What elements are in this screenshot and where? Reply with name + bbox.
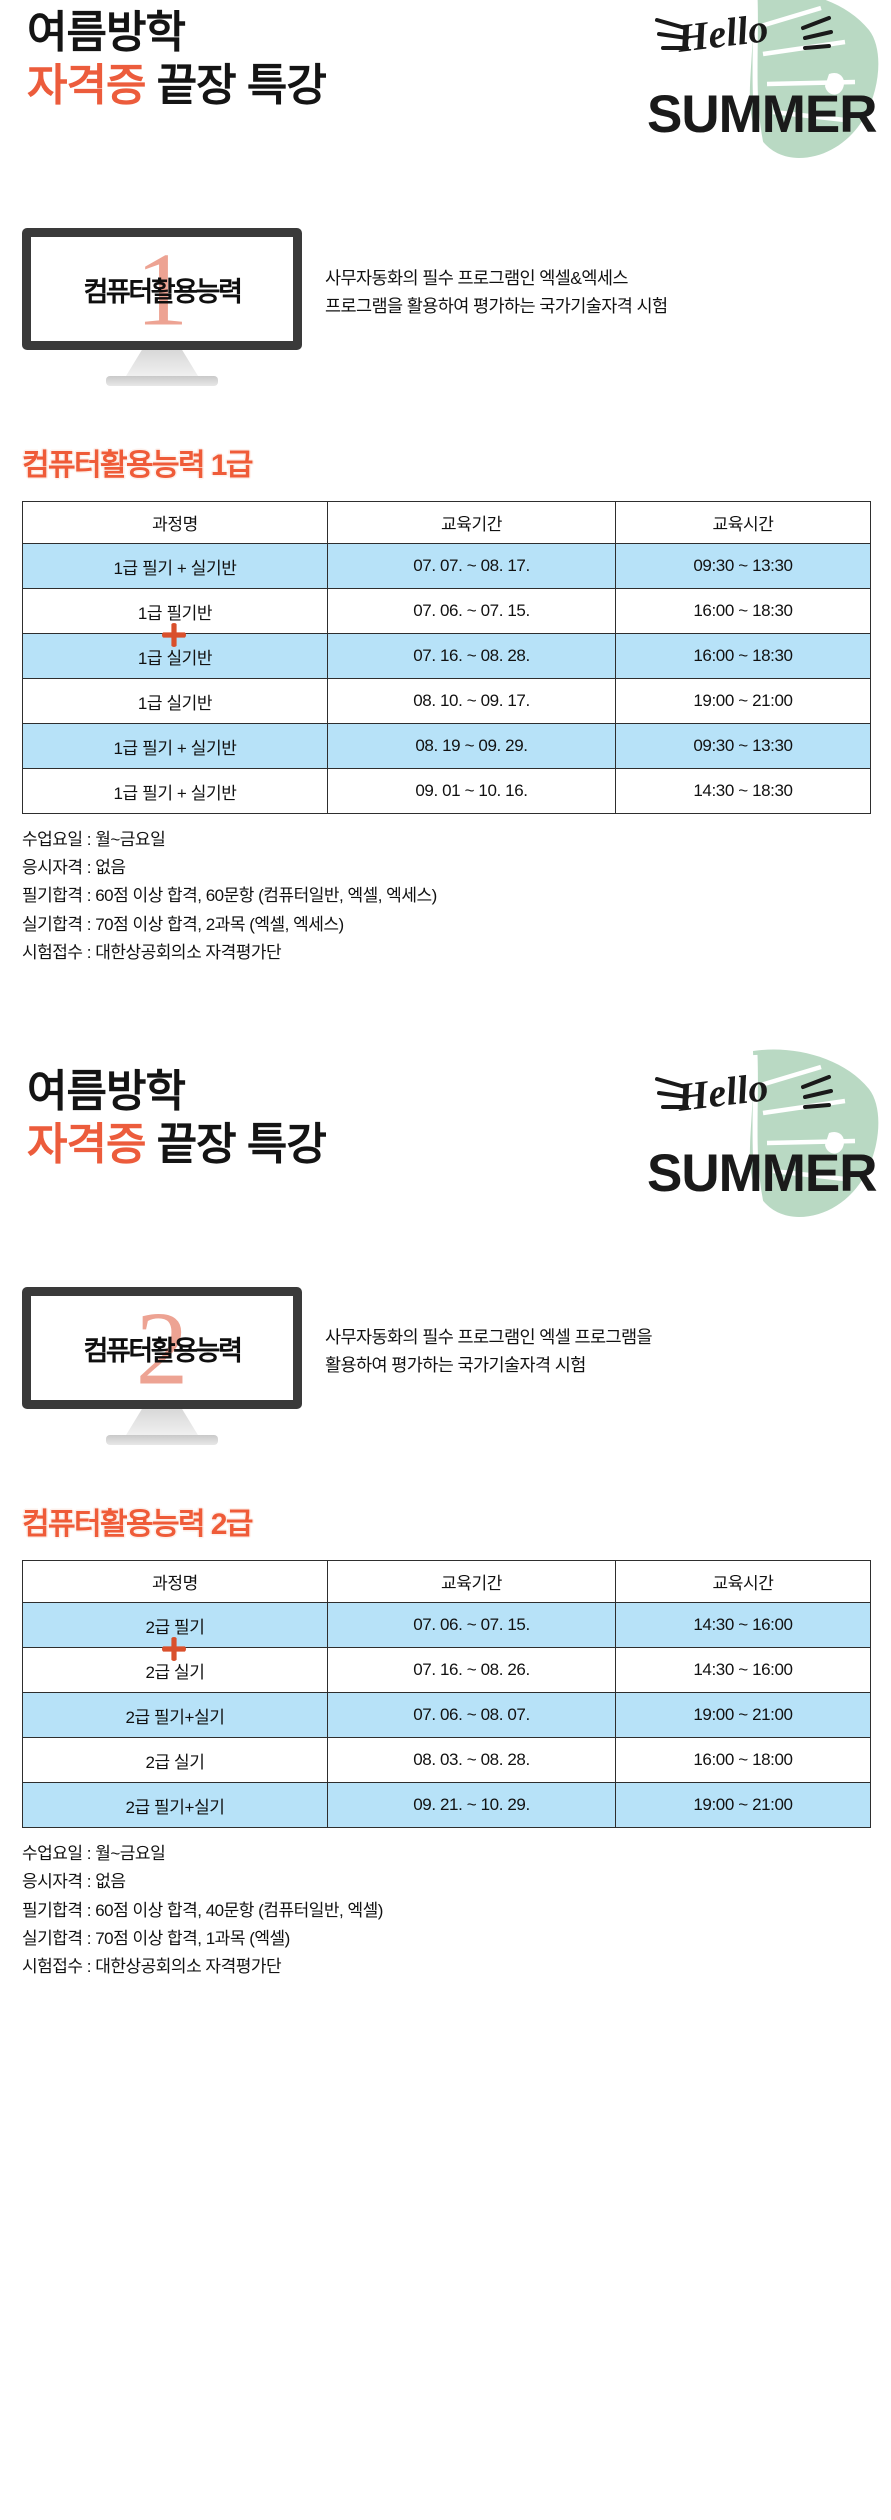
cell-time: 14:30 ~ 16:00	[616, 1648, 871, 1693]
cell-time: 16:00 ~ 18:00	[616, 1738, 871, 1783]
cell-course: 1급 실기반	[23, 679, 328, 724]
cell-time: 19:00 ~ 21:00	[616, 1783, 871, 1828]
hero-line2: 자격증 끝장 특강	[27, 61, 326, 110]
col-header-period: 교육기간	[328, 502, 616, 544]
cell-period: 07. 06. ~ 07. 15.	[328, 1603, 616, 1648]
table-row: 1급 필기 + 실기반 08. 19 ~ 09. 29. 09:30 ~ 13:…	[23, 724, 871, 769]
col-header-time: 교육시간	[616, 1561, 871, 1603]
note-line: 필기합격 : 60점 이상 합격, 60문항 (컴퓨터일반, 엑셀, 엑세스)	[22, 882, 891, 910]
promo-page: 여름방학 자격증 끝장 특강 Hello SUMMER	[0, 0, 891, 2025]
cell-time: 14:30 ~ 18:30	[616, 769, 871, 814]
table-row: 2급 실기 07. 16. ~ 08. 26. 14:30 ~ 16:00	[23, 1648, 871, 1693]
cell-course: 1급 필기 + 실기반	[23, 724, 328, 769]
table-row: 2급 실기 08. 03. ~ 08. 28. 16:00 ~ 18:00	[23, 1738, 871, 1783]
monitor-label-1: 컴퓨터활용능력	[83, 270, 240, 309]
schedule-table-wrap-2: 과정명 교육기간 교육시간 2급 필기 07. 06. ~ 07. 15. 14…	[22, 1560, 870, 1828]
cell-course: 1급 필기 + 실기반	[23, 544, 328, 589]
schedule-table-1: 과정명 교육기간 교육시간 1급 필기 + 실기반 07. 07. ~ 08. …	[22, 501, 871, 814]
cell-period: 07. 06. ~ 08. 07.	[328, 1693, 616, 1738]
monitor-graphic-1: 1 컴퓨터활용능력	[22, 228, 302, 386]
summer-block-text: SUMMER	[647, 85, 877, 144]
table-row: 1급 실기반 08. 10. ~ 09. 17. 19:00 ~ 21:00	[23, 679, 871, 724]
section-title-2: 컴퓨터활용능력 2급	[22, 1499, 891, 1543]
hero-rest-word: 끝장 특강	[145, 1120, 325, 1169]
table-row: 2급 필기+실기 09. 21. ~ 10. 29. 19:00 ~ 21:00	[23, 1783, 871, 1828]
description-line-2a: 사무자동화의 필수 프로그램인 엑셀 프로그램을	[325, 1323, 652, 1351]
cell-course: 1급 필기 + 실기반	[23, 769, 328, 814]
monitor-neck-2	[126, 1409, 198, 1435]
cell-period: 08. 03. ~ 08. 28.	[328, 1738, 616, 1783]
monitor-neck-1	[126, 350, 198, 376]
hero-line1: 여름방학	[27, 8, 326, 57]
col-header-period: 교육기간	[328, 1561, 616, 1603]
section-title-1: 컴퓨터활용능력 1급	[22, 440, 891, 484]
monitor-label-2: 컴퓨터활용능력	[83, 1329, 240, 1368]
note-line: 응시자격 : 없음	[22, 854, 891, 882]
monitor-base-2	[106, 1435, 218, 1445]
monitor-description-1: 사무자동화의 필수 프로그램인 엑셀&엑세스 프로그램을 활용하여 평가하는 국…	[325, 264, 668, 321]
table-row: 1급 필기반 07. 06. ~ 07. 15. 16:00 ~ 18:30	[23, 589, 871, 634]
col-header-course: 과정명	[23, 502, 328, 544]
footer-space	[0, 1981, 891, 2025]
note-line: 수업요일 : 월~금요일	[22, 826, 891, 854]
cell-time: 16:00 ~ 18:30	[616, 634, 871, 679]
hero-banner-1: 여름방학 자격증 끝장 특강 Hello SUMMER	[0, 0, 891, 232]
table-header-row: 과정명 교육기간 교육시간	[23, 502, 871, 544]
summer-block-text: SUMMER	[647, 1144, 877, 1203]
hero-banner-2: 여름방학 자격증 끝장 특강 Hello SUMMER	[0, 1059, 891, 1291]
monitor-screen-2: 2 컴퓨터활용능력	[22, 1287, 302, 1409]
cell-course: 2급 필기+실기	[23, 1783, 328, 1828]
table-row: 1급 실기반 07. 16. ~ 08. 28. 16:00 ~ 18:30	[23, 634, 871, 679]
cell-period: 09. 21. ~ 10. 29.	[328, 1783, 616, 1828]
hero-accent-word: 자격증	[27, 1120, 145, 1169]
note-line: 시험접수 : 대한상공회의소 자격평가단	[22, 939, 891, 967]
note-line: 시험접수 : 대한상공회의소 자격평가단	[22, 1953, 891, 1981]
hero-headline-1: 여름방학 자격증 끝장 특강	[27, 8, 326, 111]
cell-time: 14:30 ~ 16:00	[616, 1603, 871, 1648]
monitor-screen-1: 1 컴퓨터활용능력	[22, 228, 302, 350]
cell-time: 16:00 ~ 18:30	[616, 589, 871, 634]
note-line: 실기합격 : 70점 이상 합격, 2과목 (엑셀, 엑세스)	[22, 911, 891, 939]
monitor-base-1	[106, 376, 218, 386]
cell-period: 07. 16. ~ 08. 26.	[328, 1648, 616, 1693]
col-header-course: 과정명	[23, 1561, 328, 1603]
cell-course: 1급 실기반	[23, 634, 328, 679]
note-line: 필기합격 : 60점 이상 합격, 40문항 (컴퓨터일반, 엑셀)	[22, 1897, 891, 1925]
hello-summer-badge-1: Hello SUMMER	[633, 0, 883, 166]
hero-line1: 여름방학	[27, 1067, 326, 1116]
note-line: 수업요일 : 월~금요일	[22, 1840, 891, 1868]
hero-line2: 자격증 끝장 특강	[27, 1120, 326, 1169]
cell-period: 09. 01 ~ 10. 16.	[328, 769, 616, 814]
table-row: 2급 필기+실기 07. 06. ~ 08. 07. 19:00 ~ 21:00	[23, 1693, 871, 1738]
cell-time: 09:30 ~ 13:30	[616, 544, 871, 589]
description-line-1a: 사무자동화의 필수 프로그램인 엑셀&엑세스	[325, 264, 668, 292]
hello-summer-badge-2: Hello SUMMER	[633, 1045, 883, 1225]
notes-block-2: 수업요일 : 월~금요일 응시자격 : 없음 필기합격 : 60점 이상 합격,…	[22, 1840, 891, 1981]
cell-course: 2급 실기	[23, 1738, 328, 1783]
table-row: 1급 필기 + 실기반 07. 07. ~ 08. 17. 09:30 ~ 13…	[23, 544, 871, 589]
cell-course: 2급 실기	[23, 1648, 328, 1693]
col-header-time: 교육시간	[616, 502, 871, 544]
cell-period: 07. 16. ~ 08. 28.	[328, 634, 616, 679]
cell-period: 08. 10. ~ 09. 17.	[328, 679, 616, 724]
cell-period: 08. 19 ~ 09. 29.	[328, 724, 616, 769]
hero-accent-word: 자격증	[27, 61, 145, 110]
table-row: 2급 필기 07. 06. ~ 07. 15. 14:30 ~ 16:00	[23, 1603, 871, 1648]
cell-period: 07. 06. ~ 07. 15.	[328, 589, 616, 634]
monitor-graphic-2: 2 컴퓨터활용능력	[22, 1287, 302, 1445]
schedule-table-2: 과정명 교육기간 교육시간 2급 필기 07. 06. ~ 07. 15. 14…	[22, 1560, 871, 1828]
hero-headline-2: 여름방학 자격증 끝장 특강	[27, 1067, 326, 1170]
note-line: 응시자격 : 없음	[22, 1868, 891, 1896]
monitor-description-2: 사무자동화의 필수 프로그램인 엑셀 프로그램을 활용하여 평가하는 국가기술자…	[325, 1323, 652, 1380]
description-line-1b: 프로그램을 활용하여 평가하는 국가기술자격 시험	[325, 292, 668, 320]
cell-time: 19:00 ~ 21:00	[616, 679, 871, 724]
cell-course: 2급 필기	[23, 1603, 328, 1648]
monitor-block-1: 1 컴퓨터활용능력 사무자동화의 필수 프로그램인 엑셀&엑세스 프로그램을 활…	[0, 228, 891, 418]
cell-period: 07. 07. ~ 08. 17.	[328, 544, 616, 589]
monitor-block-2: 2 컴퓨터활용능력 사무자동화의 필수 프로그램인 엑셀 프로그램을 활용하여 …	[0, 1287, 891, 1477]
cell-course: 2급 필기+실기	[23, 1693, 328, 1738]
table-row: 1급 필기 + 실기반 09. 01 ~ 10. 16. 14:30 ~ 18:…	[23, 769, 871, 814]
description-line-2b: 활용하여 평가하는 국가기술자격 시험	[325, 1351, 652, 1379]
hero-rest-word: 끝장 특강	[145, 61, 325, 110]
notes-block-1: 수업요일 : 월~금요일 응시자격 : 없음 필기합격 : 60점 이상 합격,…	[22, 826, 891, 967]
cell-time: 09:30 ~ 13:30	[616, 724, 871, 769]
note-line: 실기합격 : 70점 이상 합격, 1과목 (엑셀)	[22, 1925, 891, 1953]
table-header-row: 과정명 교육기간 교육시간	[23, 1561, 871, 1603]
schedule-table-wrap-1: 과정명 교육기간 교육시간 1급 필기 + 실기반 07. 07. ~ 08. …	[22, 501, 870, 814]
cell-course: 1급 필기반	[23, 589, 328, 634]
cell-time: 19:00 ~ 21:00	[616, 1693, 871, 1738]
